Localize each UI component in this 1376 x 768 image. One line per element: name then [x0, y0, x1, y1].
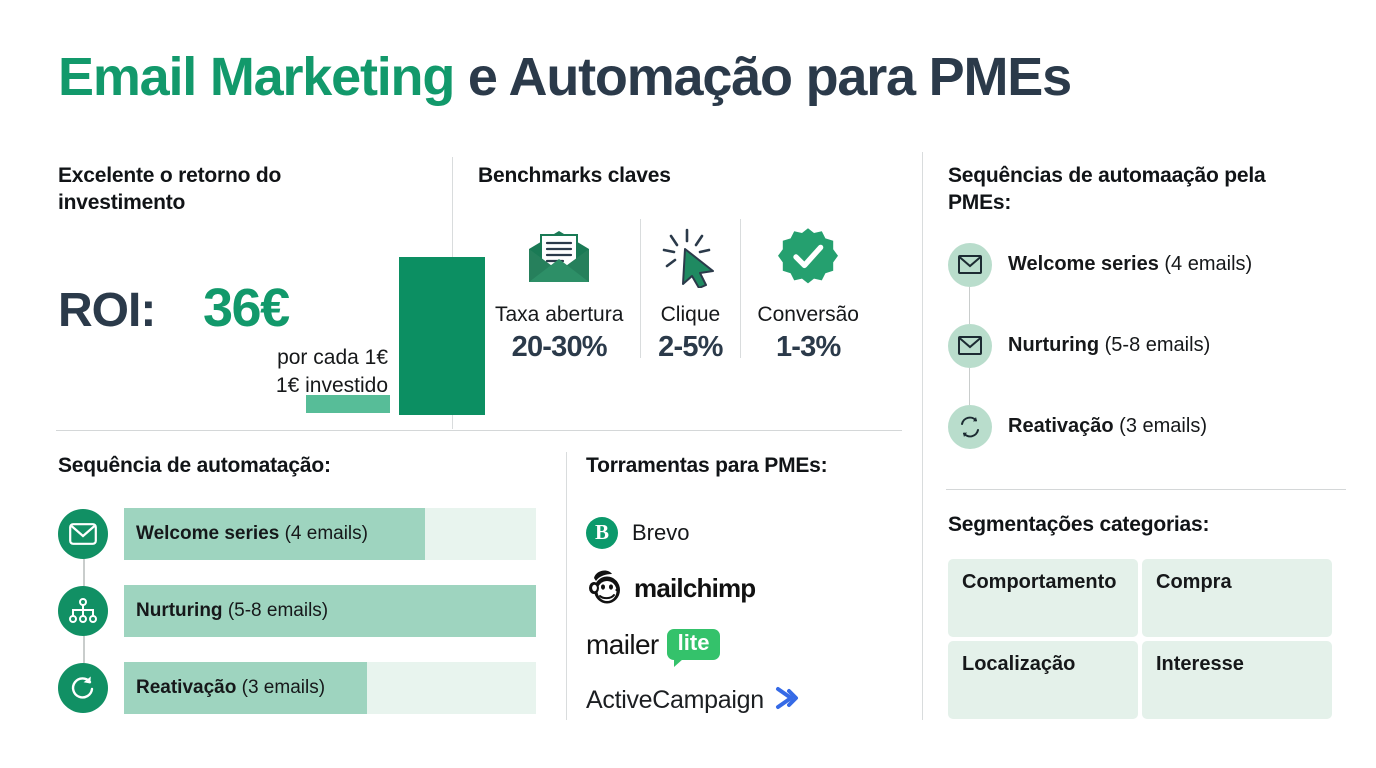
roi-section: Excelente o retorno do investimento ROI:… — [58, 163, 448, 427]
divider-horizontal-top — [56, 430, 902, 431]
segmentation-cell[interactable]: Localização — [948, 641, 1138, 719]
envelope-icon — [948, 324, 992, 368]
benchmark-value: 20-30% — [512, 331, 607, 364]
automation-item-detail: (3 emails) — [1114, 415, 1207, 437]
sequence-row-detail: (4 emails) — [279, 523, 368, 544]
roi-subtext: por cada 1€ 1€ investido — [178, 344, 388, 400]
benchmark-name: Conversão — [757, 303, 859, 327]
automation-sequences-section: Sequências de automaação pela PMEs: Welc… — [948, 163, 1348, 449]
automation-item-label: Reativação (3 emails) — [1008, 415, 1207, 438]
tools-heading: Torramentas para PMEs: — [586, 453, 906, 480]
page-title-rest: e Automação para PMEs — [454, 47, 1071, 107]
automation-item-name: Welcome series — [1008, 253, 1159, 275]
sequence-row-nurturing[interactable]: Nurturing (5-8 emails) — [58, 585, 558, 637]
tool-name: ActiveCampaign — [586, 686, 764, 715]
segmentation-grid: Comportamento Compra Localização Interes… — [948, 559, 1338, 719]
automation-sequences-heading: Sequências de automaação pela PMEs: — [948, 163, 1278, 217]
divider-vertical-seq-tools — [566, 452, 567, 720]
sequence-list: Welcome series (4 emails) — [58, 508, 558, 714]
branching-flow-icon — [58, 586, 108, 636]
benchmark-name: Clique — [661, 303, 721, 327]
sequence-row-welcome[interactable]: Welcome series (4 emails) — [58, 508, 558, 560]
benchmark-item-open-rate: Taxa abertura 20-30% — [478, 215, 640, 364]
automation-item-name: Reativação — [1008, 415, 1114, 437]
page-title: Email Marketing e Automação para PMEs — [58, 48, 1071, 107]
roi-bar-investment — [306, 395, 390, 413]
envelope-icon — [948, 243, 992, 287]
tool-name: mailchimp — [634, 573, 755, 604]
automation-item-label: Nurturing (5-8 emails) — [1008, 334, 1210, 357]
sequence-heading: Sequência de automatação: — [58, 453, 558, 480]
sequence-row-label: Nurturing (5-8 emails) — [124, 600, 328, 622]
benchmark-item-click-rate: Clique 2-5% — [640, 215, 740, 364]
benchmarks-section: Benchmarks claves — [478, 163, 898, 190]
roi-value: 36€ — [203, 277, 289, 339]
mailchimp-logo-icon — [586, 566, 628, 611]
brevo-logo-icon: B — [586, 517, 618, 549]
automation-item-reactivation[interactable]: Reativação (3 emails) — [948, 405, 1348, 449]
sequence-row-detail: (3 emails) — [236, 677, 325, 698]
tool-item-mailerlite[interactable]: mailer lite — [586, 622, 906, 668]
click-cursor-icon — [657, 215, 723, 299]
roi-label: ROI: — [58, 283, 155, 338]
sequence-row-detail: (5-8 emails) — [223, 600, 329, 621]
sequence-progress-bar: Reativação (3 emails) — [124, 662, 536, 714]
segmentation-section: Segmentações categorias: Comportamento C… — [948, 512, 1338, 719]
tool-name: mailer — [586, 629, 659, 661]
sync-arrows-icon — [948, 405, 992, 449]
envelope-icon — [58, 509, 108, 559]
segmentation-cell[interactable]: Compra — [1142, 559, 1332, 637]
sequence-row-reactivation[interactable]: Reativação (3 emails) — [58, 662, 558, 714]
tool-item-brevo[interactable]: B Brevo — [586, 510, 906, 556]
open-envelope-icon — [526, 215, 592, 299]
connector-line — [83, 635, 85, 663]
roi-figure: ROI: 36€ por cada 1€ 1€ investido — [58, 247, 448, 427]
connector-line — [969, 368, 970, 405]
benchmarks-list: Taxa abertura 20-30% — [478, 215, 876, 364]
automation-item-welcome[interactable]: Welcome series (4 emails) — [948, 243, 1348, 287]
automation-sequences-list: Welcome series (4 emails) Nurturing (5-8… — [948, 243, 1348, 449]
benchmark-value: 1-3% — [776, 331, 841, 364]
segmentation-cell[interactable]: Interesse — [1142, 641, 1332, 719]
verified-check-icon — [778, 215, 838, 299]
infographic-page: Email Marketing e Automação para PMEs Ex… — [0, 0, 1376, 768]
divider-vertical-main-right — [922, 152, 923, 480]
roi-heading: Excelente o retorno do investimento — [58, 163, 358, 217]
tool-item-mailchimp[interactable]: mailchimp — [586, 566, 906, 612]
segmentation-cell[interactable]: Comportamento — [948, 559, 1138, 637]
connector-line — [83, 558, 85, 586]
benchmark-name: Taxa abertura — [495, 303, 623, 327]
sequence-row-label: Welcome series (4 emails) — [124, 523, 368, 545]
tools-section: Torramentas para PMEs: B Brevo — [586, 453, 906, 734]
sequence-row-label: Reativação (3 emails) — [124, 677, 325, 699]
sequence-progress-bar: Welcome series (4 emails) — [124, 508, 536, 560]
sequence-row-name: Welcome series — [136, 523, 279, 544]
benchmarks-heading: Benchmarks claves — [478, 163, 898, 190]
automation-item-name: Nurturing — [1008, 334, 1099, 356]
divider-horizontal-right — [946, 489, 1346, 490]
sequence-row-name: Reativação — [136, 677, 236, 698]
tool-item-activecampaign[interactable]: ActiveCampaign — [586, 678, 906, 724]
automation-item-detail: (4 emails) — [1159, 253, 1252, 275]
tool-name: Brevo — [632, 520, 689, 546]
mailerlite-logo-icon: lite — [667, 629, 721, 660]
segmentation-heading: Segmentações categorias: — [948, 512, 1338, 539]
automation-item-detail: (5-8 emails) — [1099, 334, 1210, 356]
connector-line — [969, 287, 970, 324]
sequence-progress-bar: Nurturing (5-8 emails) — [124, 585, 536, 637]
automation-item-label: Welcome series (4 emails) — [1008, 253, 1252, 276]
roi-bar-return — [399, 257, 485, 415]
reactivate-arrow-icon — [58, 663, 108, 713]
divider-vertical-bottom-right — [922, 452, 923, 720]
benchmark-item-conversion: Conversão 1-3% — [740, 215, 876, 364]
roi-subtext-line1: por cada 1€ — [178, 344, 388, 372]
page-title-accent: Email Marketing — [58, 47, 454, 107]
sequence-section: Sequência de automatação: Welcome series… — [58, 453, 558, 714]
automation-item-nurturing[interactable]: Nurturing (5-8 emails) — [948, 324, 1348, 368]
benchmark-value: 2-5% — [658, 331, 723, 364]
activecampaign-logo-icon — [774, 684, 804, 717]
tools-list: B Brevo — [586, 510, 906, 724]
sequence-row-name: Nurturing — [136, 600, 223, 621]
